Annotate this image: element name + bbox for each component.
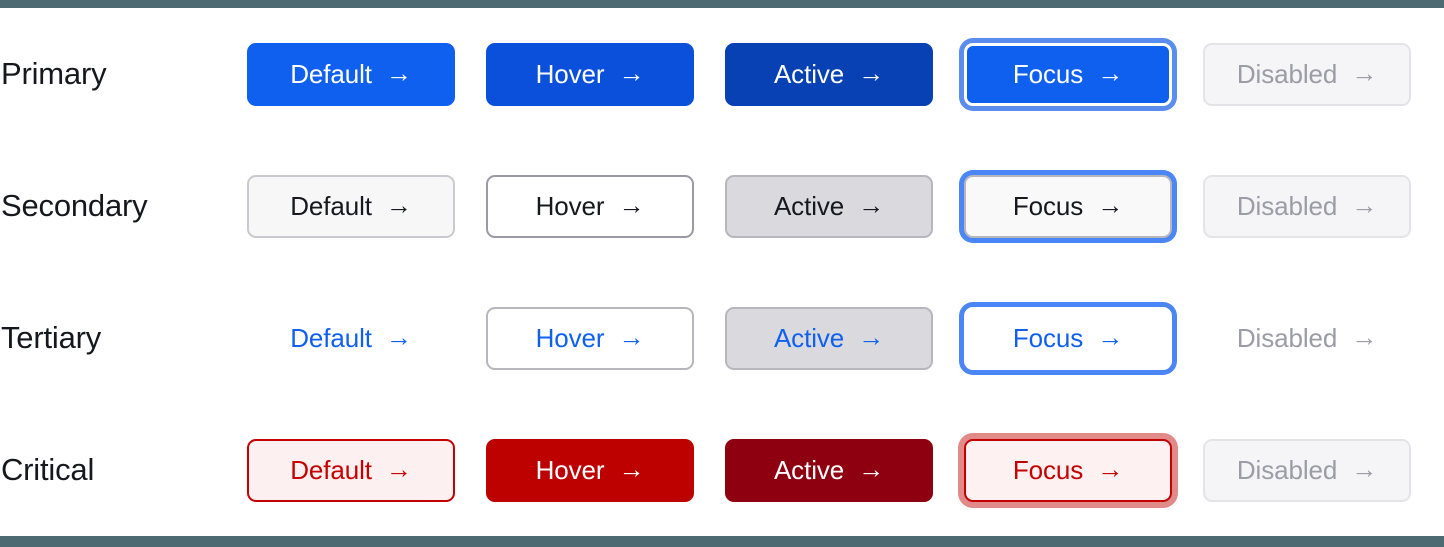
cell-tertiary-disabled: Disabled → bbox=[1203, 307, 1442, 370]
button-critical-focus[interactable]: Focus → bbox=[964, 439, 1172, 502]
button-critical-disabled: Disabled → bbox=[1203, 439, 1411, 502]
button-label: Hover bbox=[536, 455, 605, 486]
button-label: Active bbox=[774, 59, 844, 90]
button-primary-default[interactable]: Default → bbox=[247, 43, 455, 106]
button-primary-active[interactable]: Active → bbox=[725, 43, 933, 106]
arrow-right-icon: → bbox=[618, 60, 644, 86]
row-label-primary: Primary bbox=[0, 56, 247, 92]
arrow-right-icon: → bbox=[1351, 60, 1377, 86]
arrow-right-icon: → bbox=[386, 192, 412, 218]
button-state-matrix: Primary Default → Hover → Active → Focus… bbox=[0, 8, 1444, 536]
arrow-right-icon: → bbox=[858, 324, 884, 350]
cell-primary-focus: Focus → bbox=[964, 43, 1203, 106]
button-tertiary-disabled: Disabled → bbox=[1203, 307, 1411, 370]
row-label-tertiary: Tertiary bbox=[0, 320, 247, 356]
cell-primary-disabled: Disabled → bbox=[1203, 43, 1442, 106]
button-label: Hover bbox=[536, 323, 605, 354]
button-tertiary-focus[interactable]: Focus → bbox=[964, 307, 1172, 370]
cell-critical-focus: Focus → bbox=[964, 439, 1203, 502]
cell-secondary-focus: Focus → bbox=[964, 175, 1203, 238]
button-label: Hover bbox=[536, 191, 605, 222]
row-secondary: Secondary Default → Hover → Active → Foc… bbox=[0, 140, 1444, 272]
bottom-chrome-bar bbox=[0, 536, 1444, 547]
row-label-secondary: Secondary bbox=[0, 188, 247, 224]
row-tertiary: Tertiary Default → Hover → Active → Focu… bbox=[0, 272, 1444, 404]
button-label: Focus bbox=[1013, 323, 1083, 354]
arrow-right-icon: → bbox=[858, 60, 884, 86]
arrow-right-icon: → bbox=[1351, 456, 1377, 482]
cell-critical-default: Default → bbox=[247, 439, 486, 502]
arrow-right-icon: → bbox=[858, 456, 884, 482]
button-critical-default[interactable]: Default → bbox=[247, 439, 455, 502]
cell-secondary-active: Active → bbox=[725, 175, 964, 238]
button-label: Default bbox=[290, 59, 372, 90]
button-label: Hover bbox=[536, 59, 605, 90]
cell-secondary-disabled: Disabled → bbox=[1203, 175, 1442, 238]
arrow-right-icon: → bbox=[1351, 324, 1377, 350]
button-critical-hover[interactable]: Hover → bbox=[486, 439, 694, 502]
button-label: Active bbox=[774, 455, 844, 486]
button-label: Disabled bbox=[1237, 323, 1337, 354]
cell-primary-default: Default → bbox=[247, 43, 486, 106]
arrow-right-icon: → bbox=[1097, 60, 1123, 86]
arrow-right-icon: → bbox=[1097, 192, 1123, 218]
cell-critical-disabled: Disabled → bbox=[1203, 439, 1442, 502]
cell-secondary-default: Default → bbox=[247, 175, 486, 238]
button-label: Default bbox=[290, 455, 372, 486]
arrow-right-icon: → bbox=[858, 192, 884, 218]
button-secondary-active[interactable]: Active → bbox=[725, 175, 933, 238]
button-label: Disabled bbox=[1237, 59, 1337, 90]
button-label: Disabled bbox=[1237, 191, 1337, 222]
button-label: Focus bbox=[1013, 455, 1083, 486]
button-tertiary-hover[interactable]: Hover → bbox=[486, 307, 694, 370]
arrow-right-icon: → bbox=[618, 192, 644, 218]
arrow-right-icon: → bbox=[618, 324, 644, 350]
button-label: Default bbox=[290, 191, 372, 222]
cell-primary-hover: Hover → bbox=[486, 43, 725, 106]
button-secondary-hover[interactable]: Hover → bbox=[486, 175, 694, 238]
arrow-right-icon: → bbox=[1097, 456, 1123, 482]
row-primary: Primary Default → Hover → Active → Focus… bbox=[0, 8, 1444, 140]
cell-primary-active: Active → bbox=[725, 43, 964, 106]
button-tertiary-default[interactable]: Default → bbox=[247, 307, 455, 370]
button-primary-disabled: Disabled → bbox=[1203, 43, 1411, 106]
button-label: Focus bbox=[1013, 59, 1083, 90]
arrow-right-icon: → bbox=[386, 60, 412, 86]
cell-critical-hover: Hover → bbox=[486, 439, 725, 502]
button-tertiary-active[interactable]: Active → bbox=[725, 307, 933, 370]
button-label: Default bbox=[290, 323, 372, 354]
cell-tertiary-hover: Hover → bbox=[486, 307, 725, 370]
cell-tertiary-default: Default → bbox=[247, 307, 486, 370]
button-secondary-default[interactable]: Default → bbox=[247, 175, 455, 238]
button-secondary-focus[interactable]: Focus → bbox=[964, 175, 1172, 238]
cell-tertiary-active: Active → bbox=[725, 307, 964, 370]
cell-tertiary-focus: Focus → bbox=[964, 307, 1203, 370]
button-secondary-disabled: Disabled → bbox=[1203, 175, 1411, 238]
arrow-right-icon: → bbox=[618, 456, 644, 482]
cell-secondary-hover: Hover → bbox=[486, 175, 725, 238]
button-primary-focus[interactable]: Focus → bbox=[964, 43, 1172, 106]
button-label: Active bbox=[774, 191, 844, 222]
row-label-critical: Critical bbox=[0, 452, 247, 488]
arrow-right-icon: → bbox=[386, 324, 412, 350]
button-label: Disabled bbox=[1237, 455, 1337, 486]
arrow-right-icon: → bbox=[1351, 192, 1377, 218]
arrow-right-icon: → bbox=[1097, 324, 1123, 350]
button-label: Active bbox=[774, 323, 844, 354]
top-chrome-bar bbox=[0, 0, 1444, 8]
arrow-right-icon: → bbox=[386, 456, 412, 482]
row-critical: Critical Default → Hover → Active → Focu… bbox=[0, 404, 1444, 536]
button-critical-active[interactable]: Active → bbox=[725, 439, 933, 502]
button-primary-hover[interactable]: Hover → bbox=[486, 43, 694, 106]
cell-critical-active: Active → bbox=[725, 439, 964, 502]
button-label: Focus bbox=[1013, 191, 1083, 222]
